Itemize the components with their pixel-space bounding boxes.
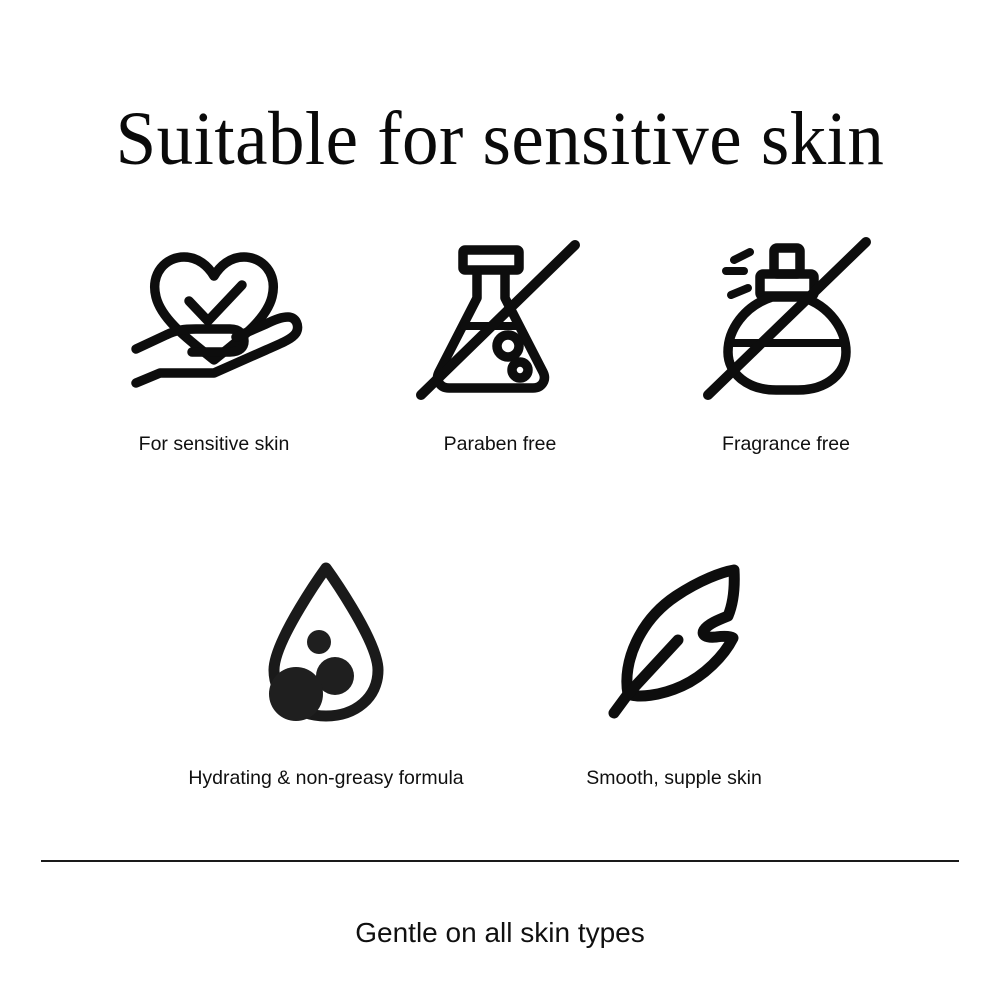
- no-perfume-bottle-icon: [698, 236, 874, 404]
- feature-item-smooth-skin: Smooth, supple skin: [500, 552, 848, 791]
- feature-row-one: For sensitive skin Paraben fre: [0, 236, 1000, 457]
- section-divider: [41, 860, 959, 862]
- infographic-page: Suitable for sensitive skin For sensitiv…: [0, 0, 1000, 1000]
- feature-label: For sensitive skin: [139, 432, 290, 457]
- feature-item-sensitive-skin: For sensitive skin: [71, 236, 357, 457]
- page-title: Suitable for sensitive skin: [20, 96, 980, 182]
- feature-row-two: Hydrating & non-greasy formula Smooth, s…: [0, 552, 1000, 791]
- feature-item-hydrating: Hydrating & non-greasy formula: [152, 552, 500, 791]
- heart-in-hand-icon: [126, 236, 302, 404]
- feature-label: Paraben free: [444, 432, 557, 457]
- water-droplet-icon: [256, 552, 396, 728]
- footer-tagline: Gentle on all skin types: [0, 916, 1000, 950]
- feather-leaf-icon: [594, 552, 754, 728]
- feature-item-fragrance-free: Fragrance free: [643, 236, 929, 457]
- feature-label: Smooth, supple skin: [586, 766, 762, 791]
- feature-item-paraben-free: Paraben free: [357, 236, 643, 457]
- feature-label: Hydrating & non-greasy formula: [188, 766, 463, 791]
- no-flask-icon: [415, 236, 585, 404]
- feature-label: Fragrance free: [722, 432, 850, 457]
